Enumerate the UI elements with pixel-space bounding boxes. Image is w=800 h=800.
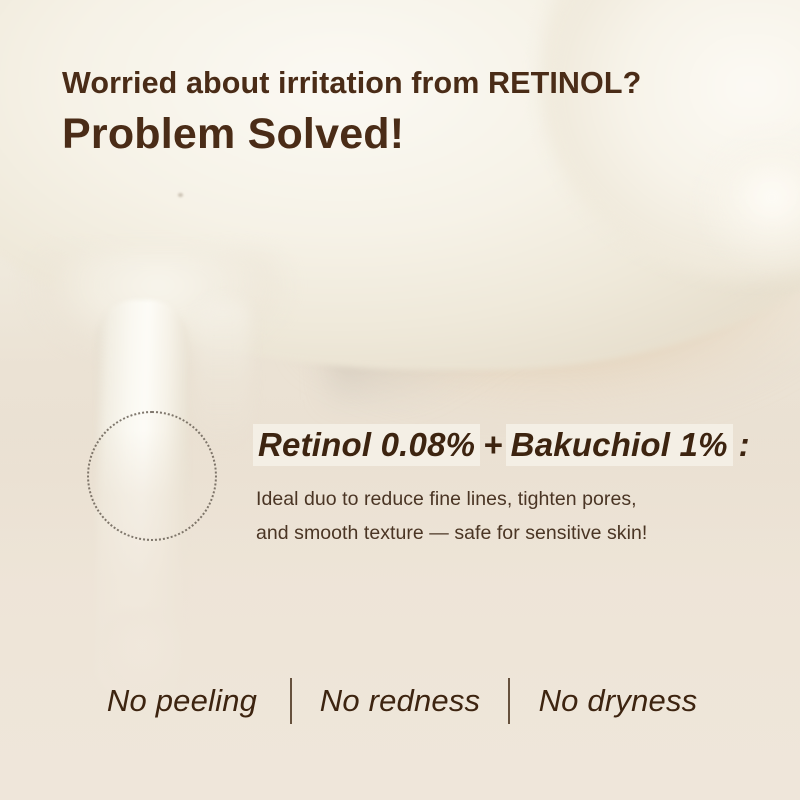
body-copy: Ideal duo to reduce fine lines, tighten … <box>256 483 726 550</box>
benefit-divider-1 <box>290 678 292 724</box>
ingredient-colon: : <box>733 426 750 463</box>
headline-block: Worried about irritation from RETINOL? P… <box>62 68 762 156</box>
benefit-no-peeling: No peeling <box>74 683 290 719</box>
benefit-divider-2 <box>508 678 510 724</box>
ingredient-retinol: Retinol 0.08% <box>253 424 480 466</box>
ingredient-bakuchiol: Bakuchiol 1% <box>506 424 733 466</box>
ingredient-separator: + <box>480 426 505 463</box>
benefit-no-dryness: No dryness <box>510 683 726 719</box>
body-copy-line-1: Ideal duo to reduce fine lines, tighten … <box>256 483 726 517</box>
cream-drip-secondary <box>196 300 250 450</box>
ingredient-claim: Retinol 0.08%+Bakuchiol 1%: <box>253 424 750 465</box>
headline-main: Problem Solved! <box>62 113 762 156</box>
benefits-row: No peeling No redness No dryness <box>0 678 800 724</box>
benefit-no-redness: No redness <box>292 683 508 719</box>
cream-speck <box>178 193 183 197</box>
promo-banner: Worried about irritation from RETINOL? P… <box>0 0 800 800</box>
dotted-circle-annotation <box>87 411 217 541</box>
body-copy-line-2: and smooth texture — safe for sensitive … <box>256 517 726 551</box>
headline-eyebrow: Worried about irritation from RETINOL? <box>62 68 762 99</box>
